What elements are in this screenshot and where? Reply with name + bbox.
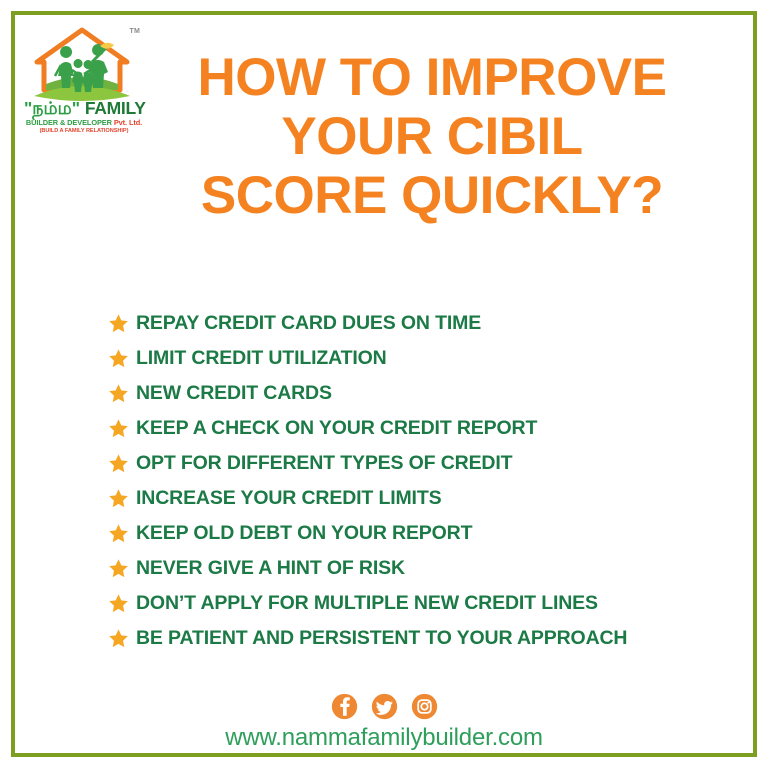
logo-brand-line: "நம்ம" FAMILY — [24, 100, 144, 118]
star-icon — [108, 313, 129, 334]
list-item: KEEP OLD DEBT ON YOUR REPORT — [108, 516, 708, 551]
list-item-label: NEW CREDIT CARDS — [136, 383, 332, 404]
list-item: NEW CREDIT CARDS — [108, 376, 708, 411]
website-url[interactable]: www.nammafamilybuilder.com — [0, 724, 768, 752]
list-item-label: NEVER GIVE A HINT OF RISK — [136, 558, 405, 579]
star-icon — [108, 383, 129, 404]
logo-tagline: BUILDER & DEVELOPER — [26, 118, 112, 127]
list-item-label: BE PATIENT AND PERSISTENT TO YOUR APPROA… — [136, 628, 627, 649]
page-title-line-2: YOUR CIBIL — [144, 107, 720, 166]
list-item-label: REPAY CREDIT CARD DUES ON TIME — [136, 313, 481, 334]
list-item-label: INCREASE YOUR CREDIT LIMITS — [136, 488, 441, 509]
star-icon — [108, 558, 129, 579]
list-item: KEEP A CHECK ON YOUR CREDIT REPORT — [108, 411, 708, 446]
list-item: LIMIT CREDIT UTILIZATION — [108, 341, 708, 376]
page-title: HOW TO IMPROVE YOUR CIBIL SCORE QUICKLY? — [144, 48, 720, 225]
twitter-icon[interactable] — [371, 693, 398, 720]
list-item: INCREASE YOUR CREDIT LIMITS — [108, 481, 708, 516]
logo-subtitle: (BUILD A FAMILY RELATIONSHIP) — [24, 129, 144, 135]
list-item: REPAY CREDIT CARD DUES ON TIME — [108, 306, 708, 341]
social-links — [0, 693, 768, 720]
list-item: NEVER GIVE A HINT OF RISK — [108, 551, 708, 586]
company-logo[interactable]: TM "நம்ம" FAMILY BUILDER & DEVELOPER Pvt… — [24, 24, 144, 136]
star-icon — [108, 593, 129, 614]
star-icon — [108, 418, 129, 439]
infographic-poster: TM "நம்ம" FAMILY BUILDER & DEVELOPER Pvt… — [0, 0, 768, 768]
house-family-logo-icon — [28, 24, 136, 104]
list-item: OPT FOR DIFFERENT TYPES OF CREDIT — [108, 446, 708, 481]
star-icon — [108, 523, 129, 544]
list-item-label: KEEP OLD DEBT ON YOUR REPORT — [136, 523, 472, 544]
logo-brand-english: FAMILY — [85, 98, 146, 118]
list-item: DON’T APPLY FOR MULTIPLE NEW CREDIT LINE… — [108, 586, 708, 621]
trademark-mark: TM — [129, 28, 140, 35]
list-item-label: LIMIT CREDIT UTILIZATION — [136, 348, 387, 369]
list-item-label: KEEP A CHECK ON YOUR CREDIT REPORT — [136, 418, 537, 439]
facebook-icon[interactable] — [331, 693, 358, 720]
star-icon — [108, 453, 129, 474]
list-item-label: OPT FOR DIFFERENT TYPES OF CREDIT — [136, 453, 512, 474]
logo-brand-tamil: "நம்ம" — [24, 98, 80, 118]
instagram-icon[interactable] — [411, 693, 438, 720]
tips-list: REPAY CREDIT CARD DUES ON TIME LIMIT CRE… — [108, 306, 708, 656]
page-title-line-1: HOW TO IMPROVE — [144, 48, 720, 107]
list-item-label: DON’T APPLY FOR MULTIPLE NEW CREDIT LINE… — [136, 593, 598, 614]
logo-entity: Pvt. Ltd. — [114, 118, 142, 127]
list-item: BE PATIENT AND PERSISTENT TO YOUR APPROA… — [108, 621, 708, 656]
page-title-line-3: SCORE QUICKLY? — [144, 166, 720, 225]
logo-tagline-line: BUILDER & DEVELOPER Pvt. Ltd. — [24, 119, 144, 126]
star-icon — [108, 488, 129, 509]
star-icon — [108, 348, 129, 369]
star-icon — [108, 628, 129, 649]
